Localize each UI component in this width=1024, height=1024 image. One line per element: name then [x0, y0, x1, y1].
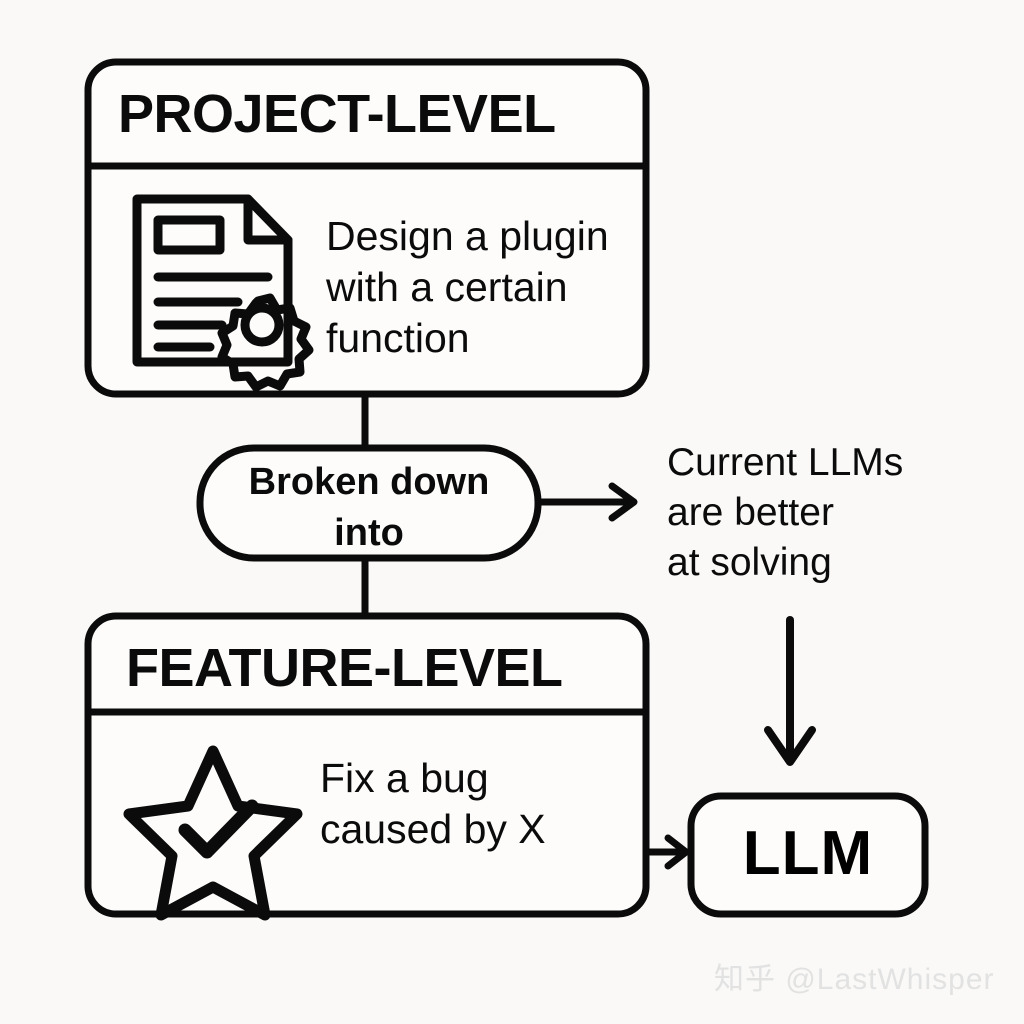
arrow-note-to-llm: [768, 620, 812, 762]
project-body-line-1: Design a plugin: [326, 212, 609, 260]
pill-label-line-2: into: [200, 511, 538, 556]
watermark: 知乎 @LastWhisper: [714, 954, 995, 998]
diagram-canvas: PROJECT-LEVEL Design a plugin with a cer…: [0, 0, 1024, 1024]
llm-box-label: LLM: [743, 819, 873, 888]
project-body-line-2: with a certain: [326, 263, 568, 311]
llm-box-label-wrap: LLM: [691, 818, 925, 889]
arrow-pill-to-note: [538, 486, 634, 518]
feature-body-line-1: Fix a bug: [320, 754, 489, 802]
project-body-line-3: function: [326, 314, 470, 362]
side-note-line-2: are better: [667, 490, 834, 536]
side-note-line-3: at solving: [667, 540, 832, 586]
feature-level-header: FEATURE-LEVEL: [126, 637, 563, 701]
pill-label-line-1: Broken down: [200, 460, 538, 505]
broken-down-pill-label: Broken down into: [200, 460, 538, 550]
side-note-line-1: Current LLMs: [667, 440, 903, 486]
project-level-header: PROJECT-LEVEL: [118, 83, 556, 147]
arrow-feature-to-llm: [650, 838, 686, 866]
feature-body-line-2: caused by X: [320, 805, 546, 853]
